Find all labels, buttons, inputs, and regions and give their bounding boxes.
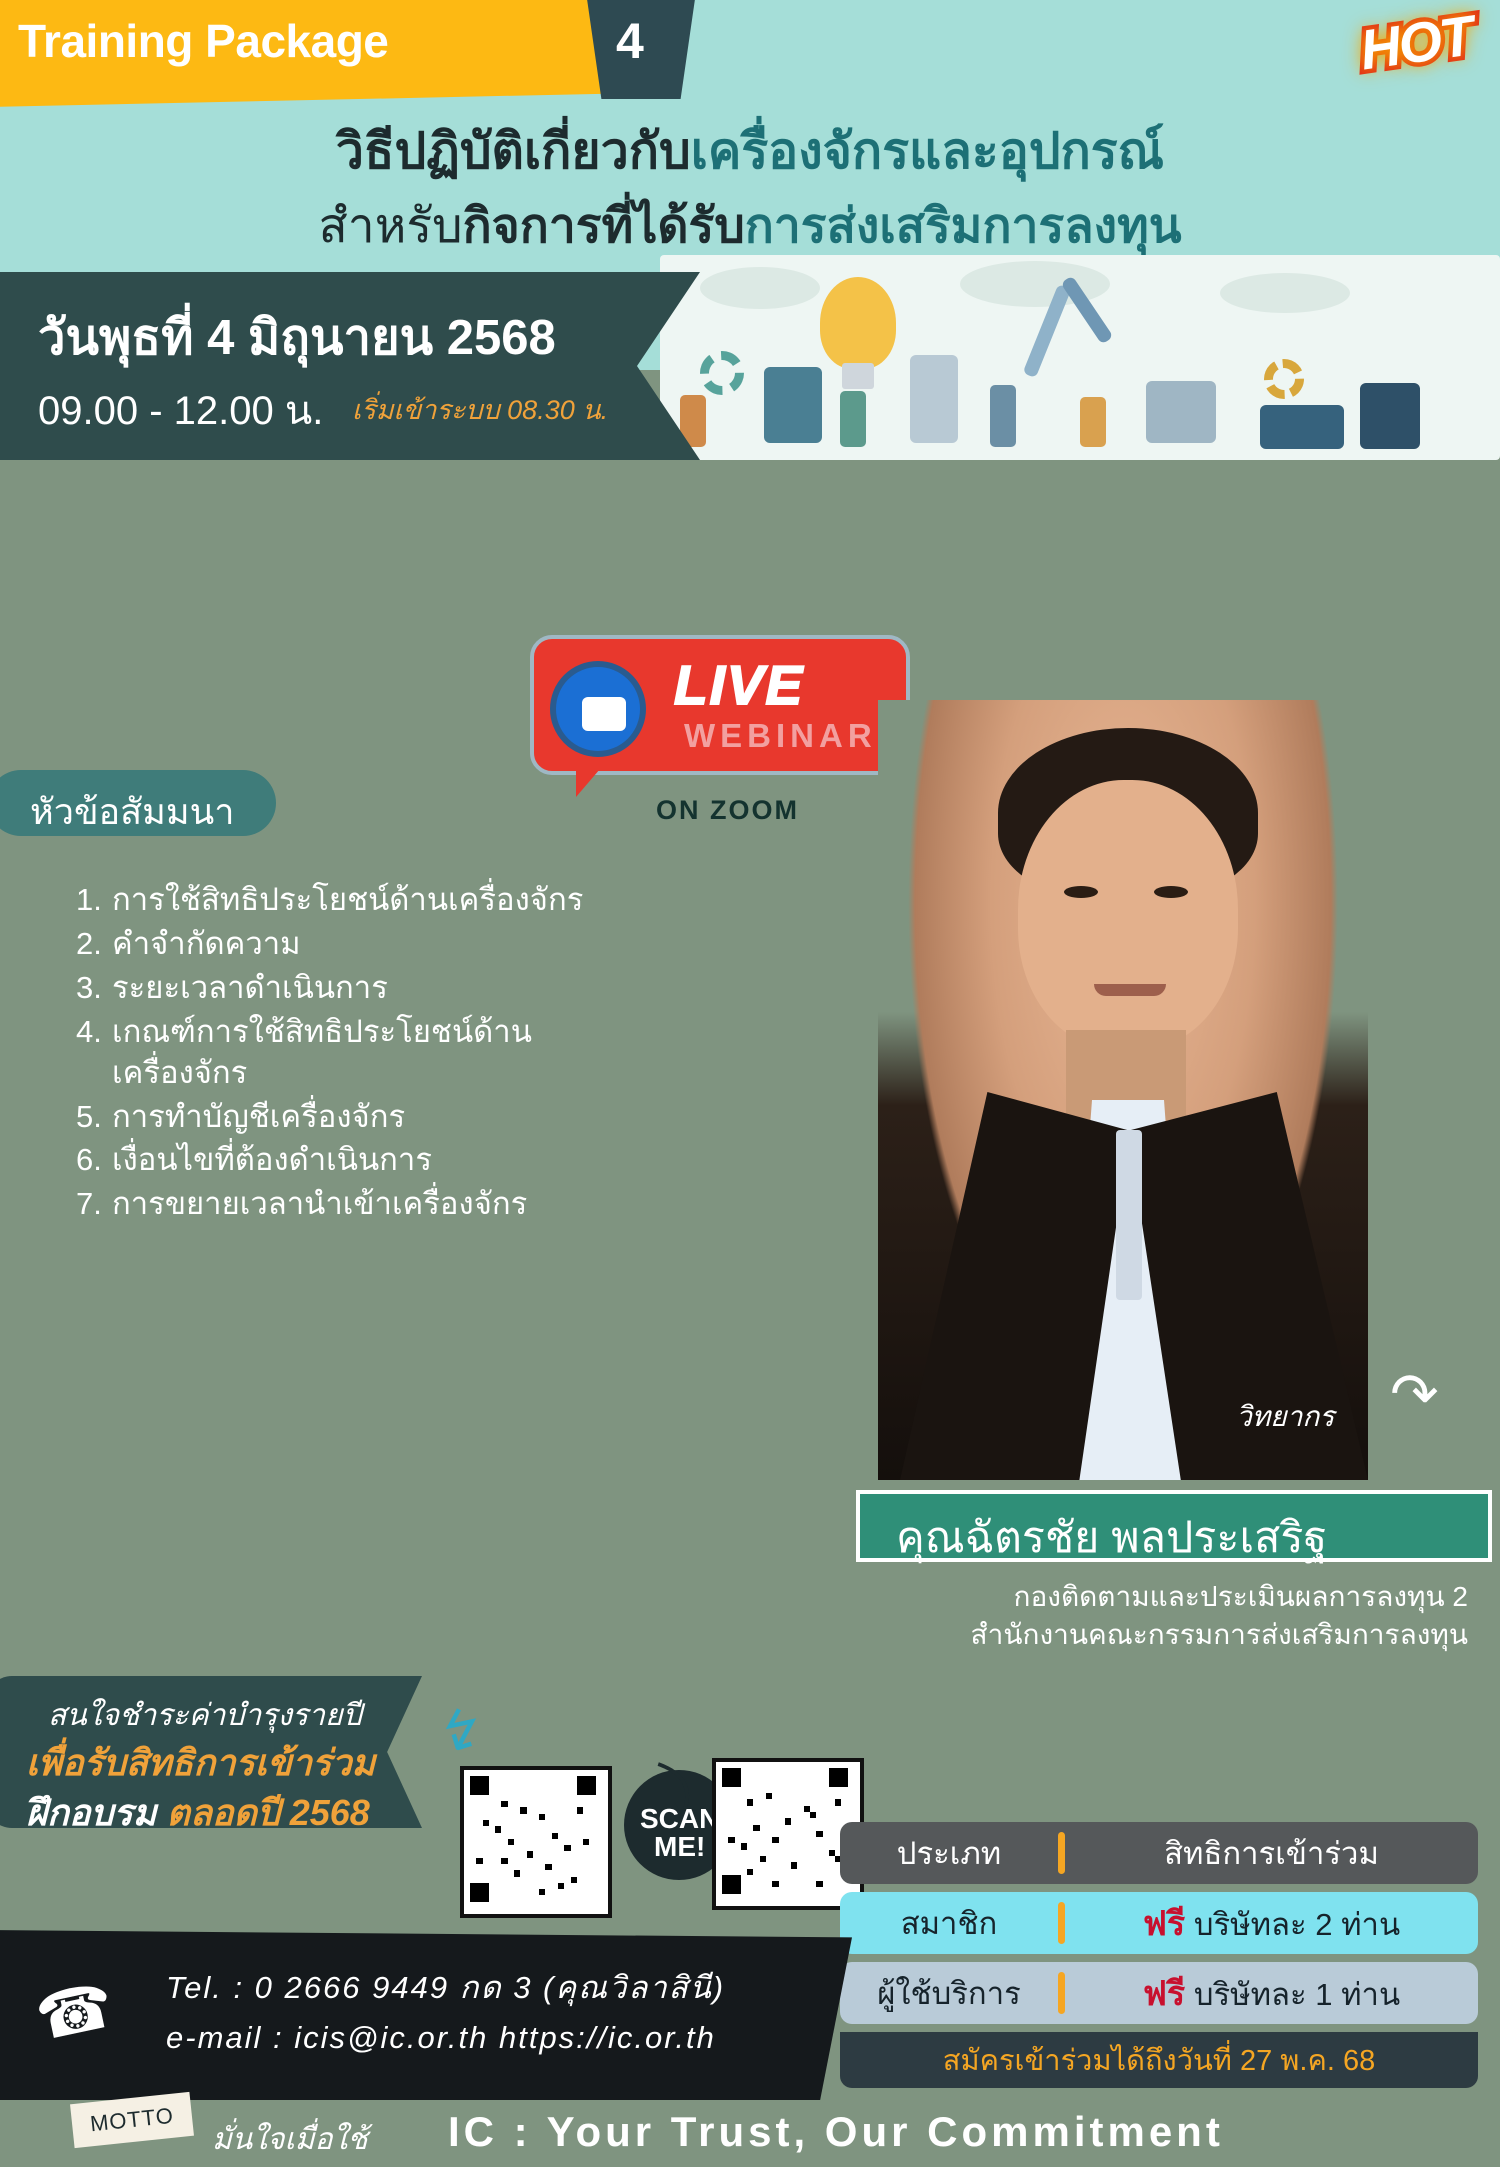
package-number: 4 <box>616 12 644 70</box>
row-type-member: สมาชิก <box>840 1898 1058 1948</box>
page-title-line1: วิธีปฏิบัติเกี่ยวกับเครื่องจักรและอุปกรณ… <box>0 112 1500 191</box>
list-item: 2.คำจำกัดความ <box>76 924 636 965</box>
topic-number: 4. <box>76 1012 112 1094</box>
login-time-note: เริ่มเข้าระบบ 08.30 น. <box>352 388 608 431</box>
cloud-shape <box>700 267 820 309</box>
topic-text: การขยายเวลานำเข้าเครื่องจักร <box>112 1184 527 1225</box>
video-camera-icon <box>550 661 646 757</box>
speaker-eye <box>1154 886 1188 898</box>
row-detail-member: ฟรี บริษัทละ 2 ท่าน <box>1065 1896 1478 1950</box>
list-item: 6.เงื่อนไขที่ต้องดำเนินการ <box>76 1140 636 1181</box>
tablet-device-icon <box>910 355 958 443</box>
title-line2-bold: กิจการที่ได้รับ <box>463 200 745 253</box>
user-quota: บริษัทละ 1 ท่าน <box>1194 1977 1400 2012</box>
speaker-annotation: วิทยากร <box>1236 1395 1334 1439</box>
table-row: สมาชิก ฟรี บริษัทละ 2 ท่าน <box>840 1892 1478 1954</box>
poster-root: Training Package 4 HOT วิธีปฏิบัติเกี่ยว… <box>0 0 1500 2167</box>
row-type-user: ผู้ใช้บริการ <box>840 1968 1058 2018</box>
topic-number: 3. <box>76 968 112 1009</box>
page-title-line2: สำหรับกิจการที่ได้รับการส่งเสริมการลงทุน <box>0 188 1500 264</box>
topic-number: 6. <box>76 1140 112 1181</box>
lightbulb-base-icon <box>842 363 874 389</box>
cloud-shape <box>1220 273 1350 313</box>
motto-prefix: มั่นใจเมื่อใช้ <box>212 2116 368 2163</box>
gear-icon <box>1264 359 1304 399</box>
qr-pattern <box>470 1776 602 1908</box>
topics-heading-pill: หัวข้อสัมมนา <box>0 770 276 836</box>
gear-icon <box>700 351 744 395</box>
person-figure <box>840 391 866 447</box>
list-item: 3.ระยะเวลาดำเนินการ <box>76 968 636 1009</box>
title-line1-plain: วิธีปฏิบัติเกี่ยวกับ <box>336 123 691 179</box>
free-badge: ฟรี <box>1143 1975 1185 2013</box>
topic-text: ระยะเวลาดำเนินการ <box>112 968 388 1009</box>
topic-text: การทำบัญชีเครื่องจักร <box>112 1097 405 1138</box>
lightbulb-icon <box>820 277 896 369</box>
promo-line-2: เพื่อรับสิทธิการเข้าร่วม <box>26 1734 375 1791</box>
speaker-organization: กองติดตามและประเมินผลการลงทุน 2 สำนักงาน… <box>0 1578 1468 1654</box>
promo-line-3: ฝึกอบรม ตลอดปี 2568 <box>26 1784 370 1841</box>
free-badge: ฟรี <box>1143 1905 1185 1943</box>
contact-telephone[interactable]: Tel. : 0 2666 9449 กด 3 (คุณวิลาสินี) <box>166 1962 725 2012</box>
speaker-org-line1: กองติดตามและประเมินผลการลงทุน 2 <box>0 1578 1468 1616</box>
list-item: 1.การใช้สิทธิประโยชน์ด้านเครื่องจักร <box>76 880 636 921</box>
topic-number: 2. <box>76 924 112 965</box>
person-figure <box>990 385 1016 447</box>
list-item: 5.การทำบัญชีเครื่องจักร <box>76 1097 636 1138</box>
training-package-label: Training Package <box>18 14 388 68</box>
topic-number: 5. <box>76 1097 112 1138</box>
column-divider <box>1058 1972 1065 2014</box>
speaker-name: คุณฉัตรชัย พลประเสริฐ <box>896 1503 1327 1571</box>
table-row: ผู้ใช้บริการ ฟรี บริษัทละ 1 ท่าน <box>840 1962 1478 2024</box>
row-detail-user: ฟรี บริษัทละ 1 ท่าน <box>1065 1966 1478 2020</box>
column-header-right: สิทธิการเข้าร่วม <box>1065 1828 1478 1878</box>
speaker-mouth <box>1094 984 1166 996</box>
list-item: 7.การขยายเวลานำเข้าเครื่องจักร <box>76 1184 636 1225</box>
promo-line-1: สนใจชำระค่าบำรุงรายปี <box>48 1692 362 1739</box>
live-label: LIVE <box>674 653 804 717</box>
topic-text: เงื่อนไขที่ต้องดำเนินการ <box>112 1140 432 1181</box>
topic-number: 1. <box>76 880 112 921</box>
speaker-org-line2: สำนักงานคณะกรรมการส่งเสริมการลงทุน <box>0 1616 1468 1654</box>
live-bubble: LIVE WEBINAR <box>530 635 910 775</box>
column-divider <box>1058 1832 1065 1874</box>
header-illustration <box>660 255 1500 460</box>
curved-arrow-down-icon: ↯ <box>429 1695 492 1769</box>
column-divider <box>1058 1902 1065 1944</box>
topic-text: คำจำกัดความ <box>112 924 301 965</box>
scan-me-label: SCAN ME! <box>640 1805 719 1861</box>
promo-line3-a: ฝึกอบรม <box>26 1792 166 1833</box>
topics-list: 1.การใช้สิทธิประโยชน์ด้านเครื่องจักร 2.ค… <box>76 880 636 1228</box>
table-header-row: ประเภท สิทธิการเข้าร่วม <box>840 1822 1478 1884</box>
platform-label: ON ZOOM <box>656 795 799 826</box>
scan-label-line1: SCAN <box>640 1805 719 1833</box>
topic-text: การใช้สิทธิประโยชน์ด้านเครื่องจักร <box>112 880 583 921</box>
speaker-photo <box>878 700 1368 1480</box>
registration-deadline: สมัครเข้าร่วมได้ถึงวันที่ 27 พ.ค. 68 <box>840 2032 1478 2088</box>
promo-line3-b: ตลอดปี 2568 <box>166 1792 369 1833</box>
webinar-label: WEBINAR <box>684 717 877 755</box>
speaker-eye <box>1064 886 1098 898</box>
topic-number: 7. <box>76 1184 112 1225</box>
printer-icon <box>1260 405 1344 449</box>
document-icon <box>1146 381 1216 443</box>
title-line2-accent: การส่งเสริมการลงทุน <box>745 200 1182 253</box>
speaker-tie <box>1116 1130 1142 1300</box>
member-quota: บริษัทละ 2 ท่าน <box>1194 1907 1400 1942</box>
list-item: 4.เกณฑ์การใช้สิทธิประโยชน์ด้านเครื่องจัก… <box>76 1012 636 1094</box>
pricing-table: ประเภท สิทธิการเข้าร่วม สมาชิก ฟรี บริษั… <box>840 1822 1478 2088</box>
machine-device-icon <box>764 367 822 443</box>
topic-text: เกณฑ์การใช้สิทธิประโยชน์ด้านเครื่องจักร <box>112 1012 636 1094</box>
live-webinar-badge: LIVE WEBINAR <box>530 635 910 775</box>
scan-label-line2: ME! <box>640 1833 719 1861</box>
qr-pattern <box>722 1768 854 1900</box>
speaker-name-bar: คุณฉัตรชัย พลประเสริฐ <box>856 1490 1492 1562</box>
topics-heading: หัวข้อสัมมนา <box>30 783 234 840</box>
seminar-time: 09.00 - 12.00 น. <box>38 378 323 442</box>
speaker-face <box>1018 780 1238 1050</box>
motto-main: IC : Your Trust, Our Commitment <box>448 2108 1224 2156</box>
title-line2-thin: สำหรับ <box>318 200 462 253</box>
contact-email-website[interactable]: e-mail : icis@ic.or.th https://ic.or.th <box>166 2020 716 2056</box>
curved-arrow-icon: ↶ <box>1390 1360 1439 1428</box>
seminar-date: วันพุธที่ 4 มิถุนายน 2568 <box>38 298 556 376</box>
column-header-type: ประเภท <box>840 1828 1058 1878</box>
server-icon <box>1360 383 1420 449</box>
person-figure <box>1080 397 1106 447</box>
title-line1-accent: เครื่องจักรและอุปกรณ์ <box>691 123 1164 179</box>
qr-code-payment[interactable] <box>460 1766 612 1918</box>
